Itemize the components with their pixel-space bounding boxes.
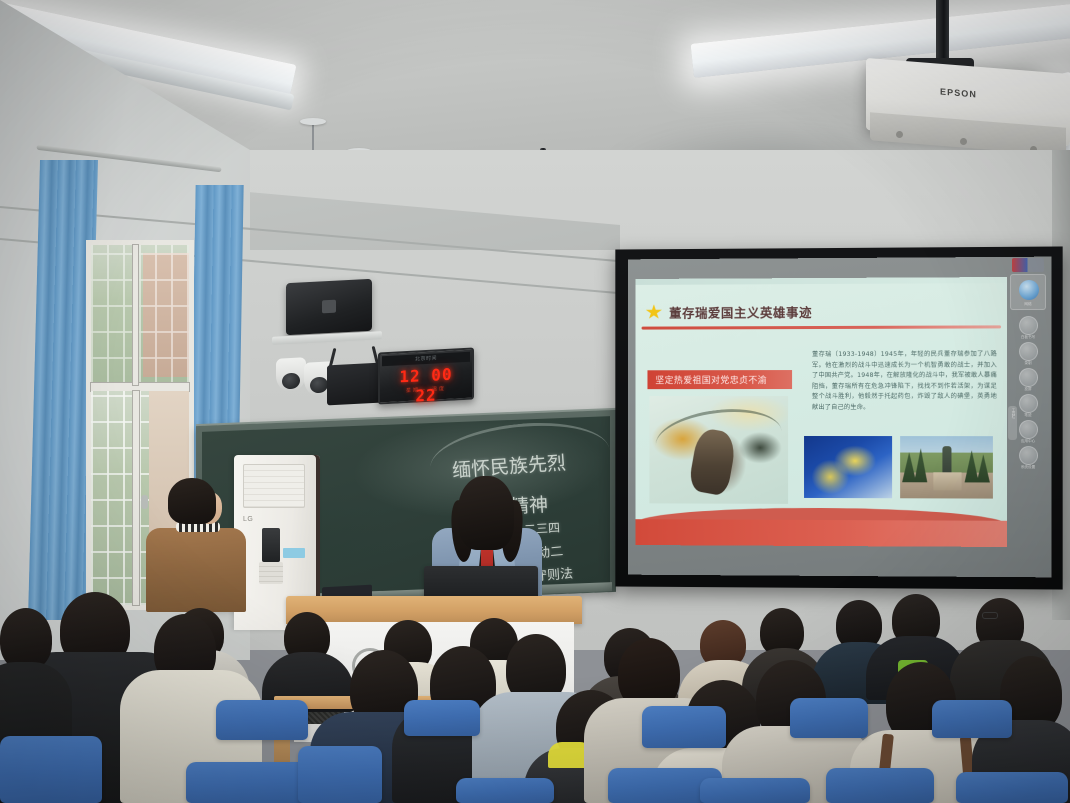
classroom-seat-9[interactable] [216, 700, 308, 740]
toolbar-status-strip [1012, 258, 1044, 272]
toolbar-record-label: 录制 [1016, 361, 1040, 366]
window-view-upper [91, 245, 189, 385]
whiteboard-icon [1019, 316, 1038, 335]
presentation-slide[interactable]: 董存瑞爱国主义英雄事迹 坚定热爱祖国对党忠贞不渝 董存瑞（1933-1948）1… [636, 277, 1007, 547]
classroom-seat-8[interactable] [956, 772, 1068, 803]
record-icon [1019, 342, 1038, 361]
toolbar-whiteboard-button[interactable]: 白板书写 [1016, 316, 1040, 340]
film-still-image [804, 436, 892, 498]
classroom-seat-7[interactable] [826, 768, 934, 803]
toolbar-pen-button[interactable]: 笔迹 [1016, 394, 1040, 418]
air-conditioner-display-panel [262, 528, 280, 562]
slide-red-banner: 坚定热爱祖国对党忠贞不渝 [647, 370, 792, 389]
window-security-bars-upper [91, 245, 189, 385]
air-conditioner-grille [243, 464, 305, 508]
slide-title: 董存瑞爱国主义英雄事迹 [669, 302, 812, 322]
toolbar-settings-button[interactable]: 系统设置 [1016, 446, 1040, 470]
slide-banner-text: 坚定热爱祖国对党忠贞不渝 [655, 373, 767, 386]
monument-tree-1 [902, 452, 916, 482]
star-icon [645, 304, 662, 320]
toolbar-collapse-tab[interactable]: 工具栏 [1008, 406, 1017, 440]
toolbar-whiteboard-label: 白板书写 [1016, 335, 1040, 340]
audience-head-front-2 [0, 608, 52, 670]
toolbar-app-button[interactable]: 应用中心 [1016, 420, 1040, 444]
toolbar-screen-label: 投屏 [1016, 387, 1040, 392]
classroom-seat-11[interactable] [790, 698, 868, 738]
app-icon [1019, 420, 1038, 439]
classroom-seat-4[interactable] [456, 778, 554, 803]
toolbar-screen-button[interactable]: 投屏 [1016, 368, 1040, 392]
classroom-seat-6[interactable] [700, 778, 810, 803]
standing-student-body [146, 528, 246, 612]
slide-top-band [636, 277, 1007, 285]
soldier-illustration-image [649, 396, 788, 504]
projector-screw-2 [960, 138, 967, 145]
wall-speaker [286, 279, 372, 336]
audience-glasses-icon [982, 612, 998, 619]
toolbar-record-button[interactable]: 录制 [1016, 342, 1040, 366]
window-latch-handle[interactable] [141, 495, 148, 509]
classroom-seat-2[interactable] [186, 762, 310, 803]
classroom-seat-13[interactable] [404, 700, 480, 736]
slide-bottom-band [636, 519, 1007, 547]
presenter-hair [458, 476, 514, 550]
monument-tree-3 [965, 450, 979, 482]
pen-icon [1019, 394, 1038, 413]
classroom-seat-3[interactable] [298, 746, 382, 803]
toolbar-tab-label: 工具栏 [1008, 406, 1017, 418]
screen-icon [1019, 368, 1038, 387]
classroom-scene: EPSON 缅怀民族先烈 民族精神 一二三四 起动二 守则法 [0, 0, 1070, 803]
slide-title-row: 董存瑞爱国主义英雄事迹 [645, 302, 812, 322]
toolbar-settings-label: 系统设置 [1016, 465, 1040, 470]
air-conditioner-brand-label: LG [243, 516, 253, 523]
toolbar-pen-label: 笔迹 [1016, 413, 1040, 418]
classroom-seat-1[interactable] [0, 736, 102, 803]
projector-screw-1 [896, 131, 903, 138]
window-mullion-vertical-2 [133, 391, 139, 605]
monument-tree-4 [977, 454, 990, 482]
settings-icon [1019, 446, 1038, 465]
podium-top-surface [286, 596, 582, 624]
slide-body-text: 董存瑞（1933-1948）1945年，年轻的民兵董存瑞参加了八路军。他在激烈的… [812, 350, 997, 413]
standing-student-hair [168, 478, 216, 524]
light-mount-1 [300, 118, 326, 125]
air-conditioner-control-keys[interactable] [259, 562, 283, 584]
slide-title-rule [642, 325, 1001, 329]
classroom-seat-12[interactable] [932, 700, 1012, 738]
toolbar-app-label: 应用中心 [1016, 439, 1040, 444]
screen-toolbar[interactable]: 网络 白板书写 录制 投屏 笔迹 应用中心 系统设置 工具栏 [1008, 258, 1048, 458]
toolbar-globe-label: 网络 [1011, 302, 1045, 307]
classroom-seat-10[interactable] [642, 706, 726, 748]
air-conditioner-sticker [283, 548, 305, 558]
wifi-router [327, 363, 381, 406]
monument-tree-2 [914, 448, 927, 482]
window-mullion-horizontal-1 [91, 383, 189, 391]
toolbar-globe-button[interactable]: 网络 [1010, 274, 1046, 310]
window-mullion-vertical-1 [133, 245, 138, 385]
monument-statue-image [900, 436, 993, 499]
